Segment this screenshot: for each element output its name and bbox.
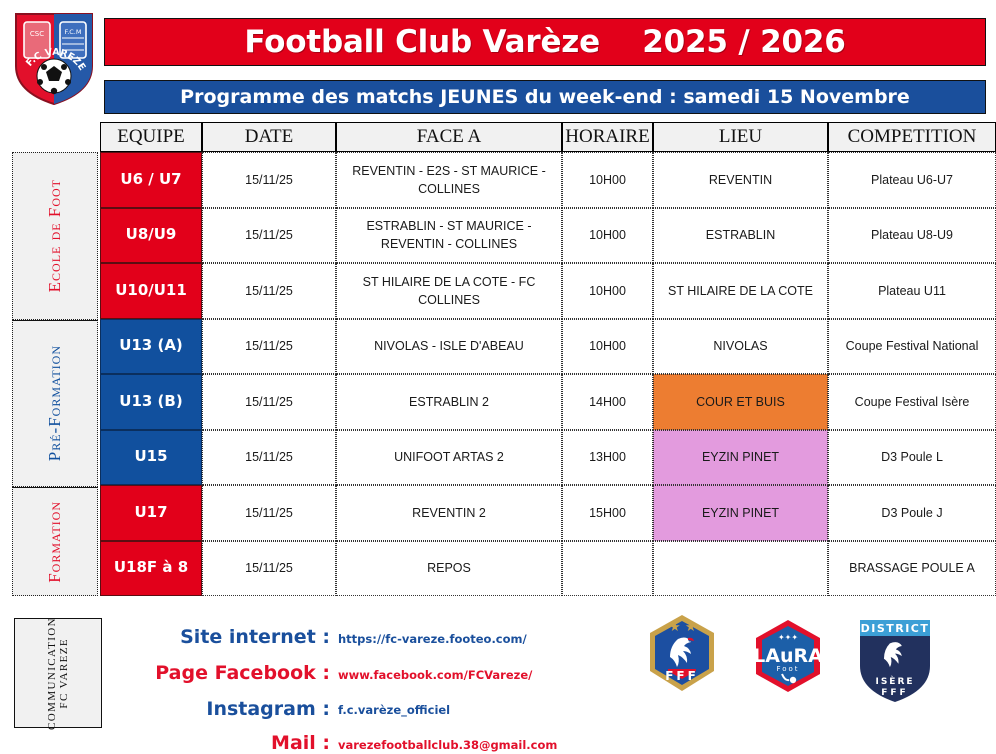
contact-value-facebook[interactable]: www.facebook.com/FCVareze/ [338,668,532,682]
category-pre-formation: Pré-Formation [12,320,98,487]
cell-competition: Coupe Festival National [828,319,996,375]
contact-label-facebook: Page Facebook : [100,662,330,684]
cell-date: 15/11/25 [202,485,336,541]
cell-lieu: ST HILAIRE DE LA COTE [653,263,828,319]
comm-line-1: COMMUNICATION [46,617,58,730]
cell-horaire: 10H00 [562,152,653,208]
team-cell: U13 (A) [100,319,202,375]
svg-text:Foot: Foot [776,665,799,673]
col-header-lieu: LIEU [653,122,828,152]
cell-lieu: REVENTIN [653,152,828,208]
col-header-face-a: FACE A [336,122,562,152]
contact-value-instagram[interactable]: f.c.varèze_officiel [338,703,450,717]
cell-competition: Coupe Festival Isère [828,374,996,430]
team-cell: U10/U11 [100,263,202,319]
category-formation: Formation [12,487,98,596]
cell-horaire: 13H00 [562,430,653,486]
page-subtitle: Programme des matchs JEUNES du week-end … [180,86,910,108]
match-schedule-table: Ecole de Foot Pré-Formation Formation EQ… [0,122,996,596]
cell-face_a: ESTRABLIN - ST MAURICE - REVENTIN - COLL… [336,208,562,264]
team-cell: U13 (B) [100,374,202,430]
cell-horaire: 10H00 [562,263,653,319]
category-ecole-de-foot: Ecole de Foot [12,152,98,320]
communication-box: COMMUNICATION FC VAREZE [14,618,102,728]
group-divider [12,320,98,321]
laura-foot-logo: ✦✦✦ LAuRA Foot [750,618,826,709]
cell-horaire: 15H00 [562,485,653,541]
cell-date: 15/11/25 [202,152,336,208]
cell-competition: D3 Poule L [828,430,996,486]
cell-horaire: 10H00 [562,319,653,375]
svg-text:LAuRA: LAuRA [753,645,823,667]
cell-lieu [653,541,828,597]
cell-competition: Plateau U11 [828,263,996,319]
category-label: Ecole de Foot [45,179,65,292]
cell-face_a: REPOS [336,541,562,597]
svg-text:★: ★ [669,619,681,634]
svg-text:✦✦✦: ✦✦✦ [778,633,798,642]
contact-label-site: Site internet : [100,626,330,648]
svg-text:★: ★ [685,619,697,634]
cell-face_a: ST HILAIRE DE LA COTE - FC COLLINES [336,263,562,319]
svg-text:CSC: CSC [30,30,44,38]
cell-competition: D3 Poule J [828,485,996,541]
cell-date: 15/11/25 [202,541,336,597]
cell-date: 15/11/25 [202,208,336,264]
cell-date: 15/11/25 [202,319,336,375]
cell-date: 15/11/25 [202,430,336,486]
contact-value-site[interactable]: https://fc-vareze.footeo.com/ [338,632,527,646]
category-label: Pré-Formation [45,345,65,461]
contact-value-mail[interactable]: varezefootballclub.38@gmail.com [338,738,557,752]
svg-text:FFF: FFF [665,669,699,683]
cell-face_a: UNIFOOT ARTAS 2 [336,430,562,486]
subtitle-banner: Programme des matchs JEUNES du week-end … [104,80,986,114]
page-footer: COMMUNICATION FC VAREZE Site internet : … [0,600,996,742]
team-cell: U15 [100,430,202,486]
team-cell: U8/U9 [100,208,202,264]
cell-horaire [562,541,653,597]
cell-lieu: EYZIN PINET [653,430,828,486]
page-header: CSC F.C.M F.C VAREZE Football Club Varèz… [0,0,996,118]
team-cell: U17 [100,485,202,541]
svg-text:DISTRICT: DISTRICT [861,622,930,635]
col-header-equipe: EQUIPE [100,122,202,152]
svg-text:ISÈRE: ISÈRE [875,675,914,687]
category-label: Formation [45,501,65,583]
cell-horaire: 14H00 [562,374,653,430]
cell-date: 15/11/25 [202,263,336,319]
fc-vareze-crest-logo: CSC F.C.M F.C VAREZE [10,8,98,108]
cell-horaire: 10H00 [562,208,653,264]
cell-competition: BRASSAGE POULE A [828,541,996,597]
page-title: Football Club Varèze 2025 / 2026 [244,24,845,60]
cell-face_a: NIVOLAS - ISLE D'ABEAU [336,319,562,375]
cell-lieu: EYZIN PINET [653,485,828,541]
district-isere-logo: DISTRICT ISÈRE FFF [856,614,934,711]
svg-text:F.C.M: F.C.M [65,28,82,36]
cell-date: 15/11/25 [202,374,336,430]
svg-text:FFF: FFF [881,688,908,698]
team-cell: U18F à 8 [100,541,202,597]
cell-face_a: REVENTIN - E2S - ST MAURICE - COLLINES [336,152,562,208]
group-divider [12,487,98,488]
col-header-date: DATE [202,122,336,152]
col-header-competition: COMPETITION [828,122,996,152]
team-cell: U6 / U7 [100,152,202,208]
cell-lieu: ESTRABLIN [653,208,828,264]
fff-logo: ★ ★ FFF [644,613,720,710]
contact-label-mail: Mail : [100,732,330,754]
cell-face_a: REVENTIN 2 [336,485,562,541]
cell-lieu: NIVOLAS [653,319,828,375]
cell-competition: Plateau U8-U9 [828,208,996,264]
comm-line-2: FC VAREZE [58,638,70,709]
cell-face_a: ESTRABLIN 2 [336,374,562,430]
cell-lieu: COUR ET BUIS [653,374,828,430]
contact-label-instagram: Instagram : [100,698,330,720]
col-header-horaire: HORAIRE [562,122,653,152]
main-title-banner: Football Club Varèze 2025 / 2026 [104,18,986,66]
cell-competition: Plateau U6-U7 [828,152,996,208]
